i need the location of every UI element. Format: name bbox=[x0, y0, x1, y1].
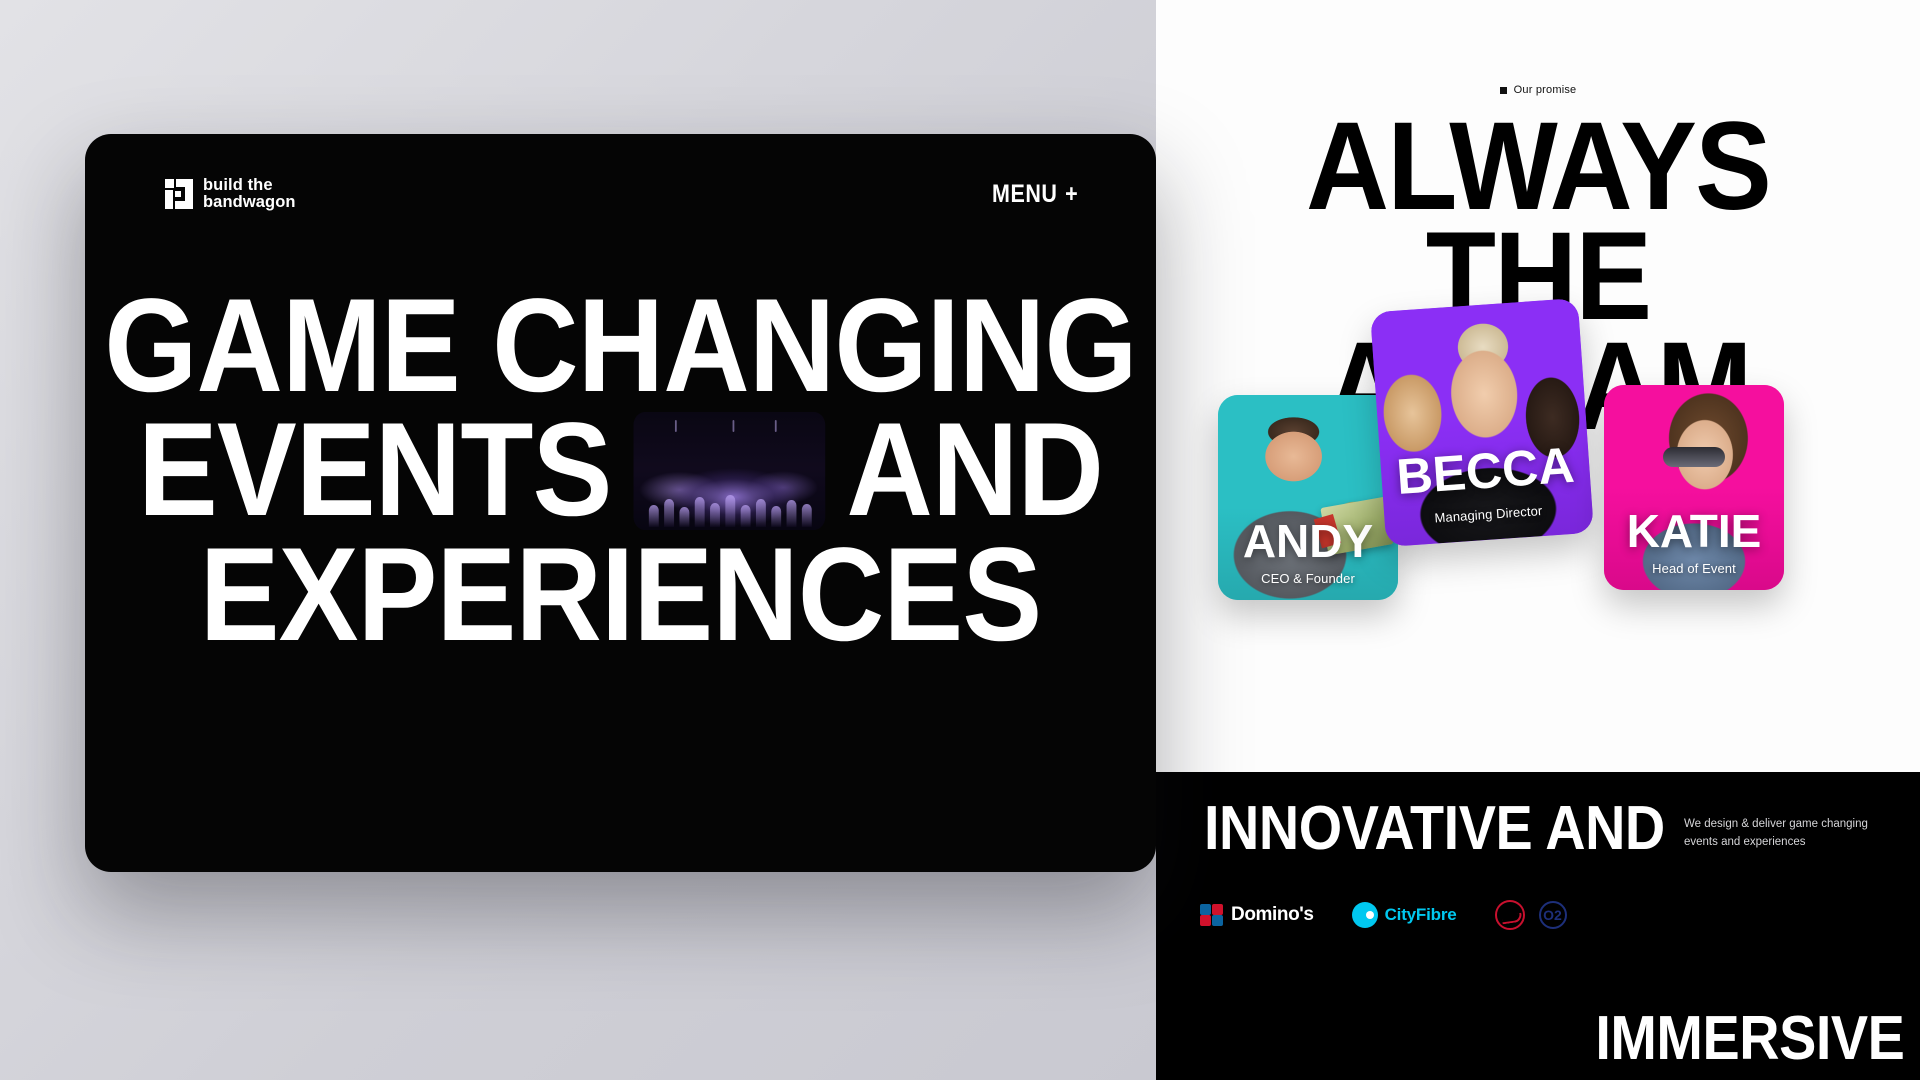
hero-headline-text-2a: EVENTS bbox=[138, 408, 612, 532]
team-name-andy: ANDY bbox=[1218, 518, 1398, 564]
innovative-copy: We design & deliver game changing events… bbox=[1684, 816, 1894, 852]
hero-headline-text-2b: AND bbox=[846, 408, 1103, 532]
bandwagon-b-mark-icon bbox=[165, 179, 193, 209]
innovative-panel: INNOVATIVE AND We design & deliver game … bbox=[1156, 772, 1920, 1080]
innovative-headline-line1: INNOVATIVE AND bbox=[1204, 798, 1665, 860]
innovative-headline-line2: IMMERSIVE bbox=[1595, 1008, 1904, 1070]
plus-icon: + bbox=[1065, 180, 1078, 209]
hero-headline-text-1: GAME CHANGING bbox=[104, 284, 1136, 408]
brand-logo[interactable]: build the bandwagon bbox=[165, 177, 296, 211]
promise-headline-line1: ALWAYS THE bbox=[1187, 112, 1890, 332]
team-name-katie: KATIE bbox=[1604, 508, 1784, 554]
brand-logo-text: build the bandwagon bbox=[203, 177, 296, 211]
team-photo-andy bbox=[1218, 395, 1398, 600]
client-name-cityfibre: CityFibre bbox=[1385, 905, 1457, 925]
client-name-dominos: Domino's bbox=[1231, 904, 1314, 926]
team-role-katie: Head of Event bbox=[1604, 561, 1784, 576]
o2-logo-icon: O2 bbox=[1539, 901, 1567, 929]
team-name-becca: BECCA bbox=[1380, 439, 1591, 503]
virgin-logo-icon bbox=[1495, 900, 1525, 930]
client-logo-o2[interactable]: O2 bbox=[1539, 901, 1567, 929]
concert-crowd-photo bbox=[633, 412, 825, 530]
hero-headline-text-3: EXPERIENCES bbox=[200, 533, 1042, 657]
hero-headline-line-2: EVENTS AND bbox=[139, 408, 1103, 532]
sunglasses-icon bbox=[1663, 447, 1725, 467]
client-logo-cityfibre[interactable]: CityFibre bbox=[1352, 902, 1457, 928]
hero-headline-line-1: GAME CHANGING bbox=[139, 284, 1103, 408]
brand-logo-line2: bandwagon bbox=[203, 194, 296, 211]
client-logos: Domino's CityFibre O2 bbox=[1200, 900, 1567, 930]
menu-button[interactable]: MENU + bbox=[992, 180, 1078, 209]
team-photo-katie bbox=[1604, 385, 1784, 590]
hero-headline: GAME CHANGING EVENTS AND EXP bbox=[85, 284, 1156, 657]
hero-card: build the bandwagon MENU + GAME CHANGING… bbox=[85, 134, 1156, 872]
client-logo-virgin[interactable] bbox=[1495, 900, 1525, 930]
team-card-andy[interactable]: ANDY CEO & Founder bbox=[1218, 395, 1398, 600]
client-logo-dominos[interactable]: Domino's bbox=[1200, 904, 1314, 926]
menu-button-label: MENU bbox=[992, 180, 1057, 209]
team-card-becca[interactable]: BECCA Managing Director bbox=[1370, 298, 1594, 547]
hero-topbar: build the bandwagon MENU + bbox=[85, 134, 1156, 254]
dominos-logo-icon bbox=[1200, 904, 1224, 926]
square-bullet-icon bbox=[1500, 87, 1507, 94]
team-role-andy: CEO & Founder bbox=[1218, 571, 1398, 586]
team-card-katie[interactable]: KATIE Head of Event bbox=[1604, 385, 1784, 590]
promise-panel: Our promise ALWAYS THE A TEAM ANDY CEO &… bbox=[1156, 0, 1920, 772]
promise-eyebrow-label: Our promise bbox=[1514, 84, 1577, 96]
promise-eyebrow: Our promise bbox=[1156, 84, 1920, 96]
brand-logo-line1: build the bbox=[203, 177, 296, 194]
hero-headline-line-3: EXPERIENCES bbox=[139, 533, 1103, 657]
cityfibre-logo-icon bbox=[1352, 902, 1378, 928]
